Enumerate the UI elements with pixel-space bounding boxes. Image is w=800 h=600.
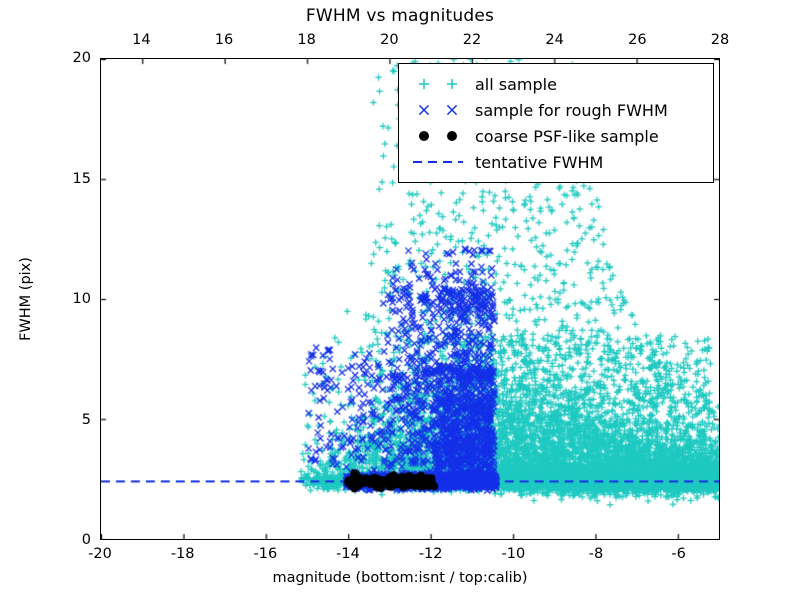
tick-label: 16 [215,32,233,48]
tick-label: 20 [380,32,398,48]
legend-item: all sample [399,71,713,97]
legend-label: coarse PSF-like sample [469,127,659,146]
figure-canvas: FWHM vs magnitudes 1416182022242628 -20-… [0,0,800,600]
tick-label: -8 [589,546,603,562]
tick-label: -18 [171,546,195,562]
legend-item: sample for rough FWHM [399,97,713,123]
x-axis-label: magnitude (bottom:isnt / top:calib) [0,570,800,586]
legend-label: sample for rough FWHM [469,101,668,120]
tick-label: 28 [711,32,729,48]
tick-label: -12 [419,546,443,562]
legend-item: tentative FWHM [399,149,713,175]
tick-label: -10 [501,546,525,562]
tick-label: -14 [336,546,360,562]
tick-label: 20 [73,50,91,66]
legend-marker-dashed-line-icon [407,149,469,175]
legend-marker-dot-icon [407,123,469,149]
tick-label: 14 [132,32,150,48]
tick-label: -20 [88,546,112,562]
legend-marker-cross-icon [407,97,469,123]
tick-label: 24 [545,32,563,48]
legend-marker-plus-icon [407,71,469,97]
tick-label: 5 [82,412,91,428]
legend-item: coarse PSF-like sample [399,123,713,149]
tick-label: 18 [297,32,315,48]
tick-label: -16 [253,546,277,562]
legend-label: tentative FWHM [469,153,603,172]
y-axis-label: FWHM (pix) [18,257,34,341]
chart-legend: all samplesample for rough FWHMcoarse PS… [398,63,714,183]
page-title: FWHM vs magnitudes [0,6,800,26]
tick-label: 15 [73,171,91,187]
tick-label: 10 [73,291,91,307]
tick-label: 0 [82,532,91,548]
tick-label: 26 [628,32,646,48]
tick-label: -6 [671,546,685,562]
tick-label: 22 [463,32,481,48]
legend-label: all sample [469,75,557,94]
